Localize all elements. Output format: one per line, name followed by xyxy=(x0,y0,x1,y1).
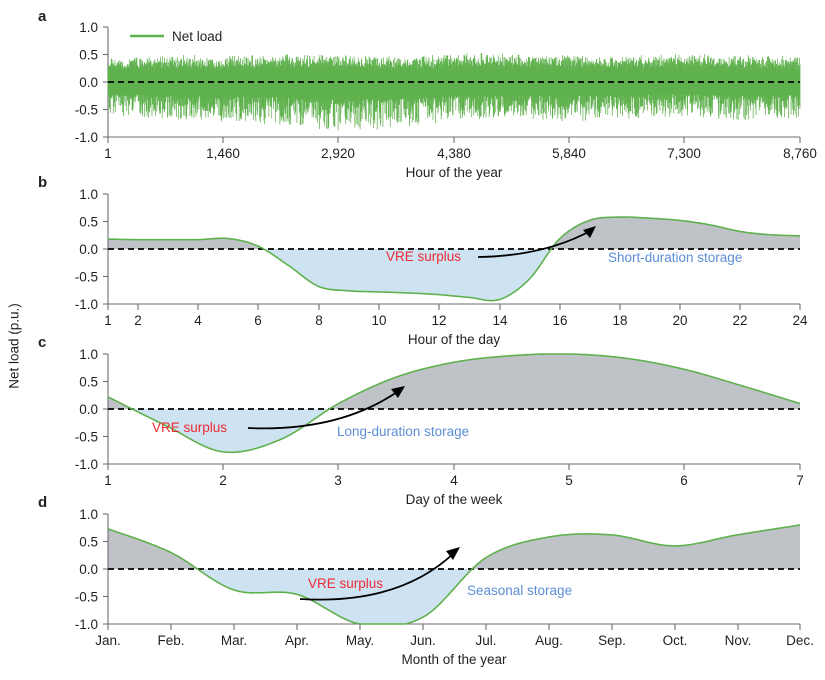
panel-c-ytick-4: -1.0 xyxy=(75,457,98,472)
panel-b-ytick-4: -1.0 xyxy=(75,297,98,312)
panel-d-ytick-4: -1.0 xyxy=(75,617,98,632)
panel-d-xtick-0: Jan. xyxy=(95,633,121,648)
panel-c-x-ticks: 1 2 3 4 5 6 7 xyxy=(104,464,804,488)
panel-b-xtick-0: 1 xyxy=(104,313,112,328)
panel-b-annotation-short-duration-storage: Short-duration storage xyxy=(608,250,742,265)
panel-c-y-ticks: 1.0 0.5 0.0 -0.5 -1.0 xyxy=(75,347,108,472)
panel-b-xtick-11: 22 xyxy=(732,313,747,328)
panel-b-xtick-12: 24 xyxy=(792,313,808,328)
panel-d-xtick-2: Mar. xyxy=(221,633,247,648)
panel-a-ytick-2: 0.0 xyxy=(79,75,98,90)
panel-d-xtick-8: Sep. xyxy=(598,633,626,648)
panel-d-xlabel: Month of the year xyxy=(401,652,507,667)
panel-d-ytick-3: -0.5 xyxy=(75,590,98,605)
panel-b-xtick-2: 4 xyxy=(194,313,202,328)
panel-d-ytick-2: 0.0 xyxy=(79,562,98,577)
panel-d-xtick-10: Nov. xyxy=(725,633,752,648)
panel-a-xtick-1: 1,460 xyxy=(206,146,240,161)
panel-d-xtick-7: Aug. xyxy=(535,633,563,648)
panel-a-series-net-load xyxy=(108,53,800,130)
panel-d-xtick-9: Oct. xyxy=(663,633,688,648)
panel-a-xtick-3: 4,380 xyxy=(437,146,471,161)
panel-a-xtick-5: 7,300 xyxy=(667,146,701,161)
panel-d-annotation-vre-surplus: VRE surplus xyxy=(308,576,383,591)
panel-b-ytick-3: -0.5 xyxy=(75,270,98,285)
panel-d-x-ticks: Jan. Feb. Mar. Apr. May. Jun. Jul. Aug. … xyxy=(95,624,814,648)
panel-a-ytick-0: 1.0 xyxy=(79,20,98,35)
panel-b: b 1.0 0.5 0.0 -0.5 -1.0 xyxy=(0,172,825,337)
panel-c-xtick-2: 3 xyxy=(334,473,342,488)
panel-d-xtick-3: Apr. xyxy=(285,633,309,648)
panel-d-xtick-4: May. xyxy=(346,633,374,648)
panel-d-xtick-1: Feb. xyxy=(157,633,184,648)
legend-label-net-load: Net load xyxy=(172,29,222,44)
panel-c-ytick-3: -0.5 xyxy=(75,430,98,445)
panel-b-ytick-0: 1.0 xyxy=(79,187,98,202)
panel-a-x-ticks: 1 1,460 2,920 4,380 5,840 7,300 8,760 xyxy=(104,137,817,161)
panel-c-letter: c xyxy=(38,334,46,351)
panel-d-xtick-5: Jun. xyxy=(410,633,436,648)
panel-c-plot: 1.0 0.5 0.0 -0.5 -1.0 VRE surplus Long-d… xyxy=(0,332,825,497)
figure-root: Net load (p.u.) a 1.0 0.5 0.0 -0.5 -1.0 xyxy=(0,0,825,680)
panel-c-annotation-long-duration-storage: Long-duration storage xyxy=(337,424,469,439)
panel-c-xtick-5: 6 xyxy=(680,473,688,488)
panel-c-xtick-1: 2 xyxy=(219,473,227,488)
panel-d-ytick-1: 0.5 xyxy=(79,535,98,550)
panel-b-xtick-5: 10 xyxy=(371,313,386,328)
panel-c-ytick-2: 0.0 xyxy=(79,402,98,417)
panel-c-xtick-4: 5 xyxy=(565,473,573,488)
panel-a-ytick-1: 0.5 xyxy=(79,48,98,63)
panel-d-annotation-seasonal-storage: Seasonal storage xyxy=(467,583,572,598)
panel-b-plot: 1.0 0.5 0.0 -0.5 -1.0 VRE surplus Short-… xyxy=(0,172,825,337)
panel-b-xtick-1: 2 xyxy=(134,313,142,328)
panel-b-annotation-vre-surplus: VRE surplus xyxy=(386,249,461,264)
panel-d-letter: d xyxy=(38,494,47,511)
panel-b-xtick-4: 8 xyxy=(315,313,323,328)
panel-a-plot: 1.0 0.5 0.0 -0.5 -1.0 Net load xyxy=(0,0,825,180)
panel-c-annotation-vre-surplus: VRE surplus xyxy=(152,420,227,435)
panel-c-xtick-0: 1 xyxy=(104,473,112,488)
panel-b-y-ticks: 1.0 0.5 0.0 -0.5 -1.0 xyxy=(75,187,108,312)
panel-b-ytick-2: 0.0 xyxy=(79,242,98,257)
panel-d: d 1.0 0.5 0.0 -0.5 -1.0 xyxy=(0,492,825,680)
panel-c: c 1.0 0.5 0.0 -0.5 -1.0 xyxy=(0,332,825,497)
panel-d-xtick-11: Dec. xyxy=(786,633,814,648)
panel-d-xtick-6: Jul. xyxy=(475,633,496,648)
panel-b-xtick-3: 6 xyxy=(254,313,262,328)
panel-d-fills xyxy=(108,525,800,624)
panel-a-letter: a xyxy=(38,8,46,25)
panel-b-x-ticks: 1 2 4 6 8 10 12 14 16 18 20 22 24 xyxy=(104,304,808,328)
panel-c-ytick-1: 0.5 xyxy=(79,375,98,390)
panel-a-xtick-0: 1 xyxy=(104,146,112,161)
panel-c-ytick-0: 1.0 xyxy=(79,347,98,362)
panel-b-xtick-9: 18 xyxy=(612,313,627,328)
panel-b-xtick-7: 14 xyxy=(492,313,508,328)
panel-a-ytick-3: -0.5 xyxy=(75,103,98,118)
panel-a-xtick-4: 5,840 xyxy=(552,146,586,161)
panel-b-xtick-8: 16 xyxy=(552,313,567,328)
panel-a: a 1.0 0.5 0.0 -0.5 -1.0 xyxy=(0,0,825,180)
panel-a-legend: Net load xyxy=(130,29,222,44)
panel-b-letter: b xyxy=(38,174,47,191)
panel-a-y-ticks: 1.0 0.5 0.0 -0.5 -1.0 xyxy=(75,20,108,145)
panel-d-y-ticks: 1.0 0.5 0.0 -0.5 -1.0 xyxy=(75,507,108,632)
panel-c-xtick-6: 7 xyxy=(796,473,804,488)
panel-a-xtick-2: 2,920 xyxy=(321,146,355,161)
panel-d-plot: 1.0 0.5 0.0 -0.5 -1.0 VRE surplus Season… xyxy=(0,492,825,680)
panel-b-ytick-1: 0.5 xyxy=(79,215,98,230)
panel-c-xtick-3: 4 xyxy=(450,473,458,488)
panel-b-xtick-10: 20 xyxy=(672,313,687,328)
panel-d-ytick-0: 1.0 xyxy=(79,507,98,522)
panel-a-ytick-4: -1.0 xyxy=(75,130,98,145)
panel-a-xtick-6: 8,760 xyxy=(783,146,817,161)
panel-b-xtick-6: 12 xyxy=(431,313,446,328)
